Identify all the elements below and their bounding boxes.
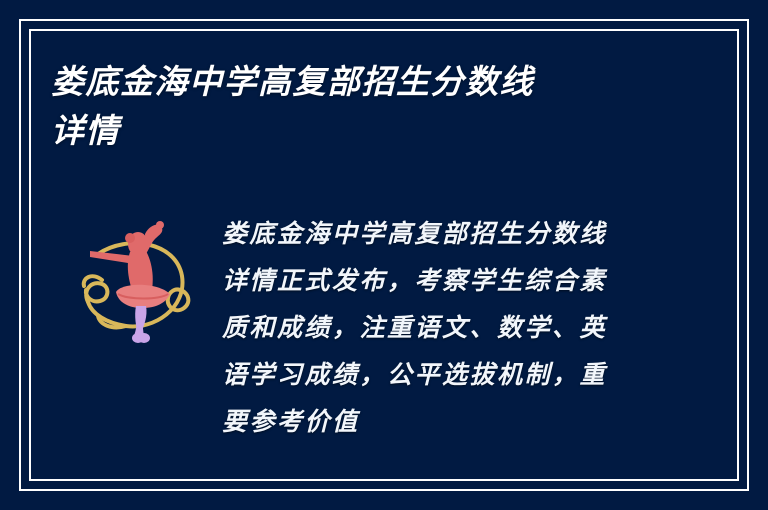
page-title-line-1: 娄底金海中学高复部招生分数线 — [51, 57, 651, 106]
page-title-line-2: 详情 — [51, 106, 651, 155]
page-title: 娄底金海中学高复部招生分数线 详情 — [51, 57, 651, 155]
ballerina-ribbon-illustration — [76, 204, 194, 344]
body-text-line-2: 详情正式发布，考察学生综合素 — [222, 257, 662, 304]
body-text-line-1: 娄底金海中学高复部招生分数线 — [222, 210, 662, 257]
poster-canvas: 娄底金海中学高复部招生分数线 详情 — [0, 0, 768, 510]
body-text-line-5: 要参考价值 — [222, 398, 662, 445]
body-text-line-4: 语学习成绩，公平选拔机制，重 — [222, 351, 662, 398]
body-text: 娄底金海中学高复部招生分数线 详情正式发布，考察学生综合素 质和成绩，注重语文、… — [222, 210, 662, 445]
body-text-line-3: 质和成绩，注重语文、数学、英 — [222, 304, 662, 351]
